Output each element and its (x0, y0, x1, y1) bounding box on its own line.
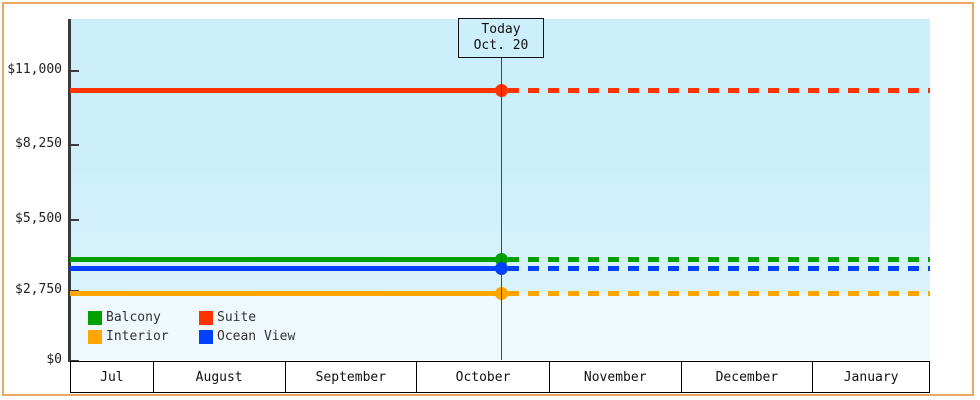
x-axis-month-cell[interactable]: November (550, 362, 682, 392)
chart-legend: Balcony Suite Interior Ocean View (88, 310, 295, 344)
y-axis-tick-label: $2,750 (15, 282, 62, 297)
legend-swatch-icon (199, 311, 213, 325)
legend-item-suite: Suite (199, 310, 295, 325)
x-axis-month-table: Jul August September October November De… (70, 361, 930, 393)
x-axis-month-cell[interactable]: October (417, 362, 550, 392)
series-line-balcony-forecast (508, 257, 930, 262)
today-annotation-box: Today Oct. 20 (458, 18, 544, 58)
y-axis-tick-2750: $2,750 (0, 282, 66, 298)
x-axis-month-cell[interactable]: September (286, 362, 418, 392)
legend-label: Suite (217, 310, 256, 325)
series-line-interior-forecast (508, 291, 930, 296)
legend-swatch-icon (88, 311, 102, 325)
today-annotation-date: Oct. 20 (474, 38, 529, 54)
y-axis-tick-11000: $11,000 (0, 62, 66, 78)
series-line-interior-actual (70, 291, 502, 296)
y-axis-tick-label: $0 (46, 352, 62, 367)
chart-screenshot: $11,000 $8,250 $5,500 $2,750 $0 Today Oc… (0, 0, 980, 400)
series-line-suite-forecast (508, 88, 930, 93)
today-vertical-line (501, 19, 502, 360)
x-axis-month-cell[interactable]: August (154, 362, 286, 392)
x-axis-month-cell[interactable]: January (813, 362, 929, 392)
y-axis-tick-label: $8,250 (15, 136, 62, 151)
series-line-balcony-actual (70, 257, 502, 262)
y-axis-tick-5500: $5,500 (0, 211, 66, 227)
series-line-ocean-view-actual (70, 266, 502, 271)
x-axis-month-cell[interactable]: Jul (71, 362, 154, 392)
legend-item-balcony: Balcony (88, 310, 193, 325)
legend-label: Balcony (106, 310, 161, 325)
legend-swatch-icon (88, 330, 102, 344)
today-annotation-title: Today (481, 22, 520, 38)
legend-label: Ocean View (217, 329, 295, 344)
y-axis-tick-8250: $8,250 (0, 136, 66, 152)
series-line-ocean-view-forecast (508, 266, 930, 271)
y-axis-tick-mark (71, 144, 79, 146)
legend-label: Interior (106, 329, 169, 344)
y-axis-tick-label: $5,500 (15, 211, 62, 226)
y-axis-tick-mark (71, 70, 79, 72)
y-axis-tick-label: $11,000 (7, 62, 62, 77)
legend-item-ocean-view: Ocean View (199, 329, 295, 344)
legend-item-interior: Interior (88, 329, 193, 344)
series-line-suite-actual (70, 88, 502, 93)
y-axis-tick-mark (71, 219, 79, 221)
legend-swatch-icon (199, 330, 213, 344)
y-axis-tick-0: $0 (0, 352, 66, 368)
x-axis-month-cell[interactable]: December (682, 362, 814, 392)
